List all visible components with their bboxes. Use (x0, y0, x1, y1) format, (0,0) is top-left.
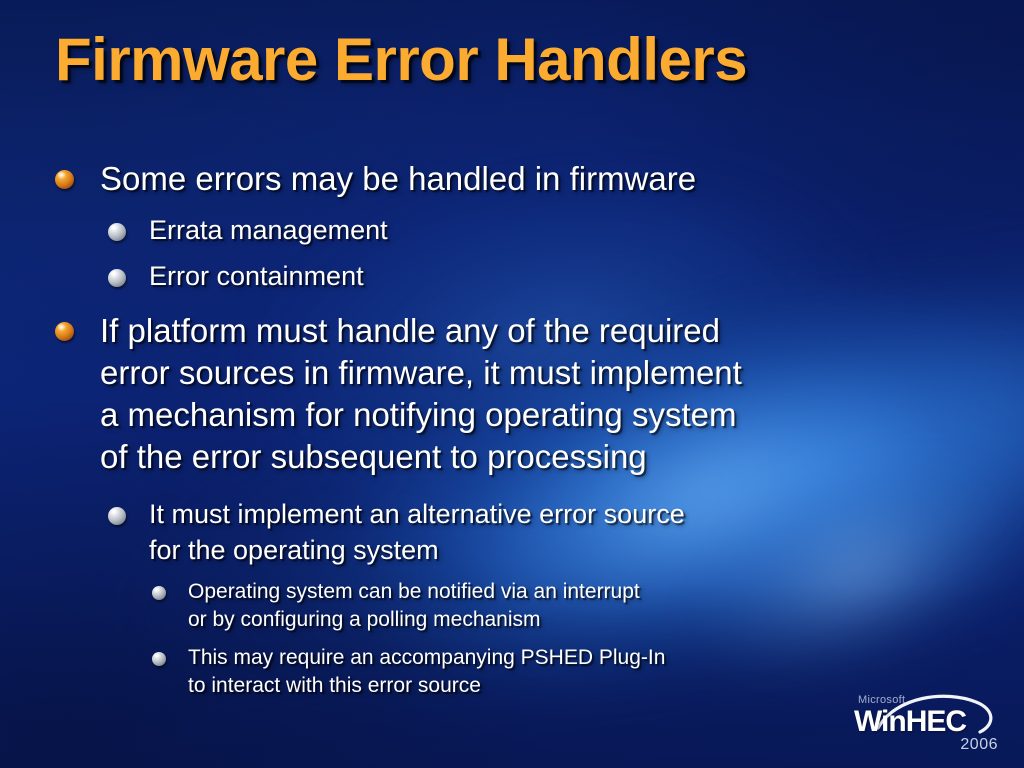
spacer (0, 250, 1024, 258)
spacer (0, 296, 1024, 310)
slide-canvas: Firmware Error Handlers Some errors may … (0, 0, 1024, 768)
bullet-item-level2: Error containment (0, 258, 1024, 294)
bullet-marker-slot (108, 496, 149, 525)
bullet-item-level3: Operating system can be notified via an … (0, 578, 1024, 634)
slide-title: Firmware Error Handlers (55, 28, 955, 93)
orange-sphere-bullet-icon (55, 170, 74, 189)
spacer (0, 570, 1024, 578)
bullet-item-level2: Errata management (0, 212, 1024, 248)
slide-body-content: Some errors may be handled in firmware E… (0, 158, 1024, 702)
bullet-text: Some errors may be handled in firmware (100, 158, 696, 200)
bullet-marker-slot (108, 212, 149, 241)
orange-sphere-bullet-icon (55, 322, 74, 341)
bullet-marker-slot (152, 578, 188, 600)
bullet-item-level1: Some errors may be handled in firmware (0, 158, 1024, 200)
bullet-item-level1: If platform must handle any of the requi… (0, 310, 1024, 478)
spacer (0, 482, 1024, 496)
bullet-text: Operating system can be notified via an … (188, 578, 640, 634)
spacer (0, 204, 1024, 212)
bullet-text: This may require an accompanying PSHED P… (188, 644, 665, 700)
winhec-logo: Microsoft WinHEC 2006 (848, 688, 1006, 754)
bullet-marker-slot (55, 310, 100, 341)
bullet-text: Error containment (149, 258, 364, 294)
bullet-marker-slot (152, 644, 188, 666)
bullet-marker-slot (55, 158, 100, 189)
bullet-text: Errata management (149, 212, 388, 248)
bullet-text: If platform must handle any of the requi… (100, 310, 742, 478)
silver-sphere-bullet-icon (108, 223, 126, 241)
silver-sphere-bullet-small-icon (152, 586, 166, 600)
bullet-marker-slot (108, 258, 149, 287)
logo-year-text: 2006 (960, 736, 998, 754)
logo-product-text: WinHEC (854, 705, 966, 739)
spacer (0, 636, 1024, 644)
silver-sphere-bullet-icon (108, 269, 126, 287)
silver-sphere-bullet-small-icon (152, 652, 166, 666)
silver-sphere-bullet-icon (108, 507, 126, 525)
bullet-text: It must implement an alternative error s… (149, 496, 685, 568)
bullet-item-level2: It must implement an alternative error s… (0, 496, 1024, 568)
